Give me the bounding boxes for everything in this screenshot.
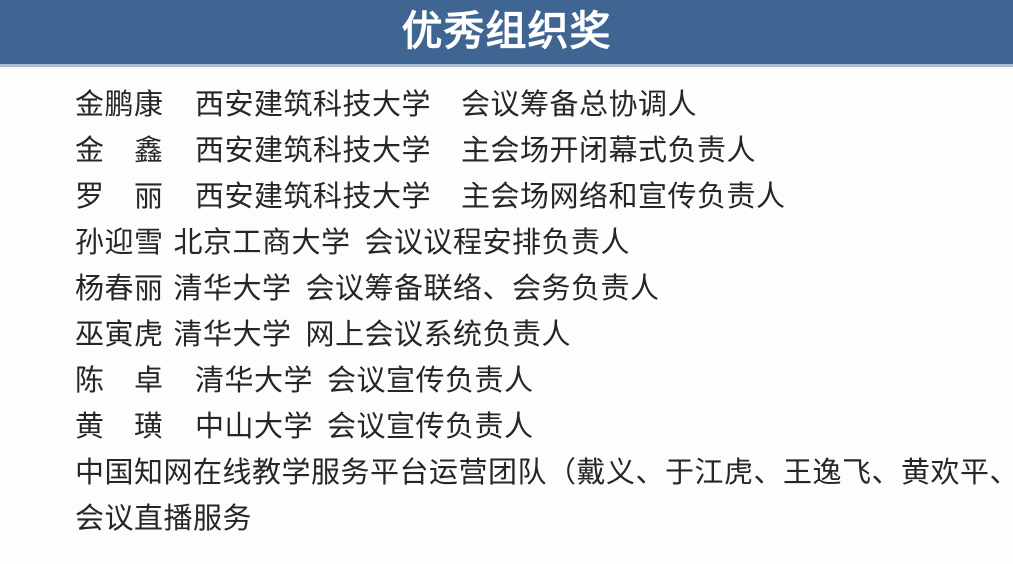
list-item: 罗丽西安建筑科技大学主会场网络和宣传负责人 bbox=[75, 174, 1005, 220]
recipient-givenname: 鑫 bbox=[134, 135, 163, 167]
recipient-name: 杨春丽 bbox=[75, 266, 164, 312]
recipient-school: 西安建筑科技大学 bbox=[195, 174, 431, 220]
footer-line-live-broadcast: 会议直播服务 bbox=[75, 496, 1005, 542]
recipient-surname: 罗 bbox=[75, 181, 104, 213]
recipient-surname: 金 bbox=[75, 135, 104, 167]
recipient-role: 网上会议系统负责人 bbox=[306, 312, 572, 358]
recipient-role: 会议宣传负责人 bbox=[327, 404, 534, 450]
title-banner: 优秀组织奖 bbox=[0, 0, 1013, 64]
recipient-school: 中山大学 bbox=[195, 404, 313, 450]
list-item: 杨春丽清华大学会议筹备联络、会务负责人 bbox=[75, 266, 1005, 312]
recipient-school: 清华大学 bbox=[174, 312, 292, 358]
recipient-role: 主会场网络和宣传负责人 bbox=[461, 174, 786, 220]
list-item: 巫寅虎清华大学网上会议系统负责人 bbox=[75, 312, 1005, 358]
list-item: 金鹏康西安建筑科技大学会议筹备总协调人 bbox=[75, 82, 1005, 128]
list-item: 黄璜中山大学会议宣传负责人 bbox=[75, 404, 1005, 450]
recipient-school: 清华大学 bbox=[195, 358, 313, 404]
recipient-role: 会议筹备总协调人 bbox=[461, 82, 697, 128]
recipient-school: 西安建筑科技大学 bbox=[195, 128, 431, 174]
list-item: 金鑫西安建筑科技大学主会场开闭幕式负责人 bbox=[75, 128, 1005, 174]
footer-line-operations-team: 中国知网在线教学服务平台运营团队（戴义、于江虎、王逸飞、黄欢平、赵灵） bbox=[75, 450, 1005, 496]
list-item: 孙迎雪北京工商大学会议议程安排负责人 bbox=[75, 220, 1005, 266]
banner-underline-divider bbox=[0, 64, 1013, 67]
recipient-name: 陈卓 bbox=[75, 358, 195, 404]
recipient-school: 西安建筑科技大学 bbox=[195, 82, 431, 128]
page-title: 优秀组织奖 bbox=[402, 11, 612, 54]
recipient-name: 金鹏康 bbox=[75, 82, 195, 128]
recipient-school: 北京工商大学 bbox=[174, 220, 351, 266]
recipient-name: 金鑫 bbox=[75, 128, 195, 174]
recipient-givenname: 璜 bbox=[134, 411, 163, 443]
recipient-role: 会议宣传负责人 bbox=[327, 358, 534, 404]
list-item: 陈卓清华大学会议宣传负责人 bbox=[75, 358, 1005, 404]
recipient-surname: 陈 bbox=[75, 365, 104, 397]
slide-root: 优秀组织奖 金鹏康西安建筑科技大学会议筹备总协调人 金鑫西安建筑科技大学主会场开… bbox=[0, 0, 1013, 564]
recipient-school: 清华大学 bbox=[174, 266, 292, 312]
recipient-surname: 黄 bbox=[75, 411, 104, 443]
recipient-givenname: 卓 bbox=[134, 365, 163, 397]
recipient-name: 黄璜 bbox=[75, 404, 195, 450]
recipient-name: 罗丽 bbox=[75, 174, 195, 220]
recipient-name: 巫寅虎 bbox=[75, 312, 164, 358]
recipient-role: 会议议程安排负责人 bbox=[365, 220, 631, 266]
recipient-role: 会议筹备联络、会务负责人 bbox=[306, 266, 660, 312]
recipient-givenname: 丽 bbox=[134, 181, 163, 213]
award-recipient-list: 金鹏康西安建筑科技大学会议筹备总协调人 金鑫西安建筑科技大学主会场开闭幕式负责人… bbox=[75, 82, 1005, 542]
recipient-role: 主会场开闭幕式负责人 bbox=[461, 128, 756, 174]
recipient-name: 孙迎雪 bbox=[75, 220, 164, 266]
